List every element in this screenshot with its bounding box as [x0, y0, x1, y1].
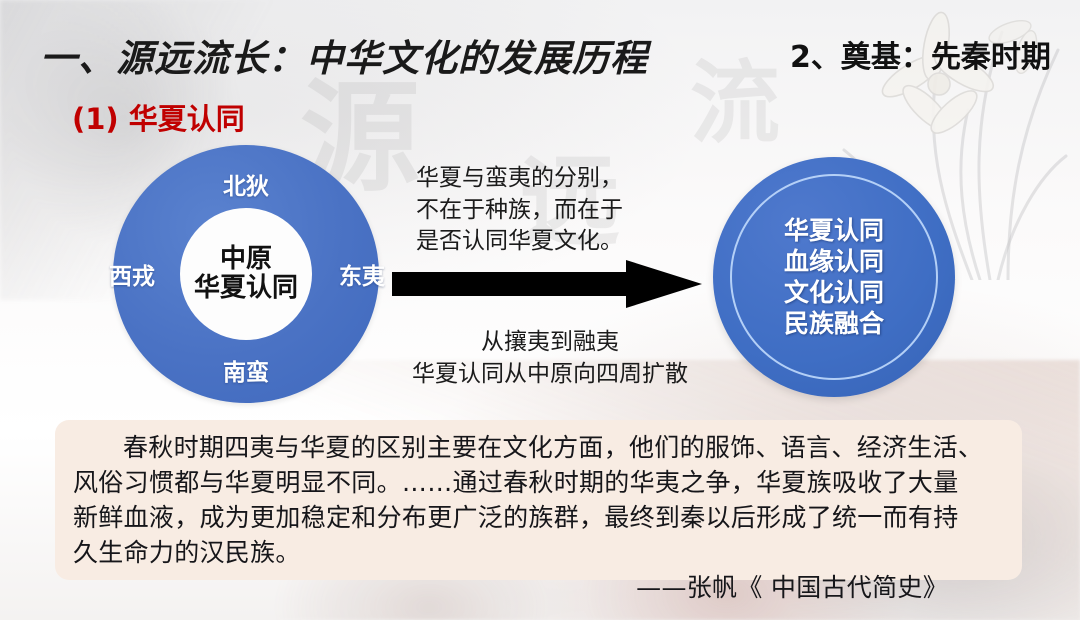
middle-statement: 华夏与蛮夷的分别， 不在于种族，而在于 是否认同华夏文化。: [416, 163, 623, 258]
middle-caption: 从攘夷到融夷 华夏认同从中原向四周扩散: [355, 326, 745, 390]
page-title: 一、源远流长：中华文化的发展历程: [40, 28, 648, 82]
ring-label-north: 北狄: [223, 167, 269, 201]
huaxia-identity-concentric-diagram: 北狄 西戎 东夷 南蛮 中原 华夏认同: [113, 145, 379, 403]
quotation-card: 春秋时期四夷与华夏的区别主要在文化方面，他们的服饰、语言、经济生活、 风俗习惯都…: [55, 420, 1022, 580]
right-arrow-icon: [388, 258, 706, 310]
ring-label-south: 南蛮: [223, 353, 269, 387]
quote-line-4: 久生命力的汉民族。: [73, 535, 1004, 570]
quote-line-1: 春秋时期四夷与华夏的区别主要在文化方面，他们的服饰、语言、经济生活、: [73, 430, 1004, 465]
quote-line-2: 风俗习惯都与华夏明显不同。……通过春秋时期的华夷之争，华夏族吸收了大量: [73, 465, 1004, 500]
quote-line-3: 新鲜血液，成为更加稳定和分布更广泛的族群，最终到秦以后形成了统一而有持: [73, 500, 1004, 535]
quote-attribution: ——张帆《 中国古代简史》: [73, 570, 1004, 605]
middle-statement-line-2: 不在于种族，而在于: [416, 195, 623, 227]
ring-core-line-1: 中原: [151, 245, 341, 274]
ring-core-line-2: 华夏认同: [151, 274, 341, 303]
ring-label-west: 西戎: [109, 257, 155, 291]
middle-statement-line-1: 华夏与蛮夷的分别，: [416, 163, 623, 195]
middle-caption-line-1: 从攘夷到融夷: [355, 326, 745, 358]
ring-core-text: 中原 华夏认同: [151, 245, 341, 303]
page-subtitle: 2、奠基：先秦时期: [790, 32, 1051, 76]
identity-outcomes-circle: 华夏认同 血缘认同 文化认同 民族融合: [713, 157, 955, 397]
disc-line-3: 文化认同: [729, 277, 939, 308]
disc-line-1: 华夏认同: [729, 215, 939, 246]
disc-text-block: 华夏认同 血缘认同 文化认同 民族融合: [729, 215, 939, 339]
ring-label-east: 东夷: [339, 257, 385, 291]
slide-canvas: 源 远 流 一、源远流长：中华文化的发展历程 2、奠基：先秦时期 (1) 华夏认…: [0, 0, 1080, 620]
middle-caption-line-2: 华夏认同从中原向四周扩散: [355, 358, 745, 390]
middle-statement-line-3: 是否认同华夏文化。: [416, 226, 623, 258]
disc-line-2: 血缘认同: [729, 246, 939, 277]
section-heading: (1) 华夏认同: [72, 96, 245, 138]
disc-line-4: 民族融合: [729, 308, 939, 339]
